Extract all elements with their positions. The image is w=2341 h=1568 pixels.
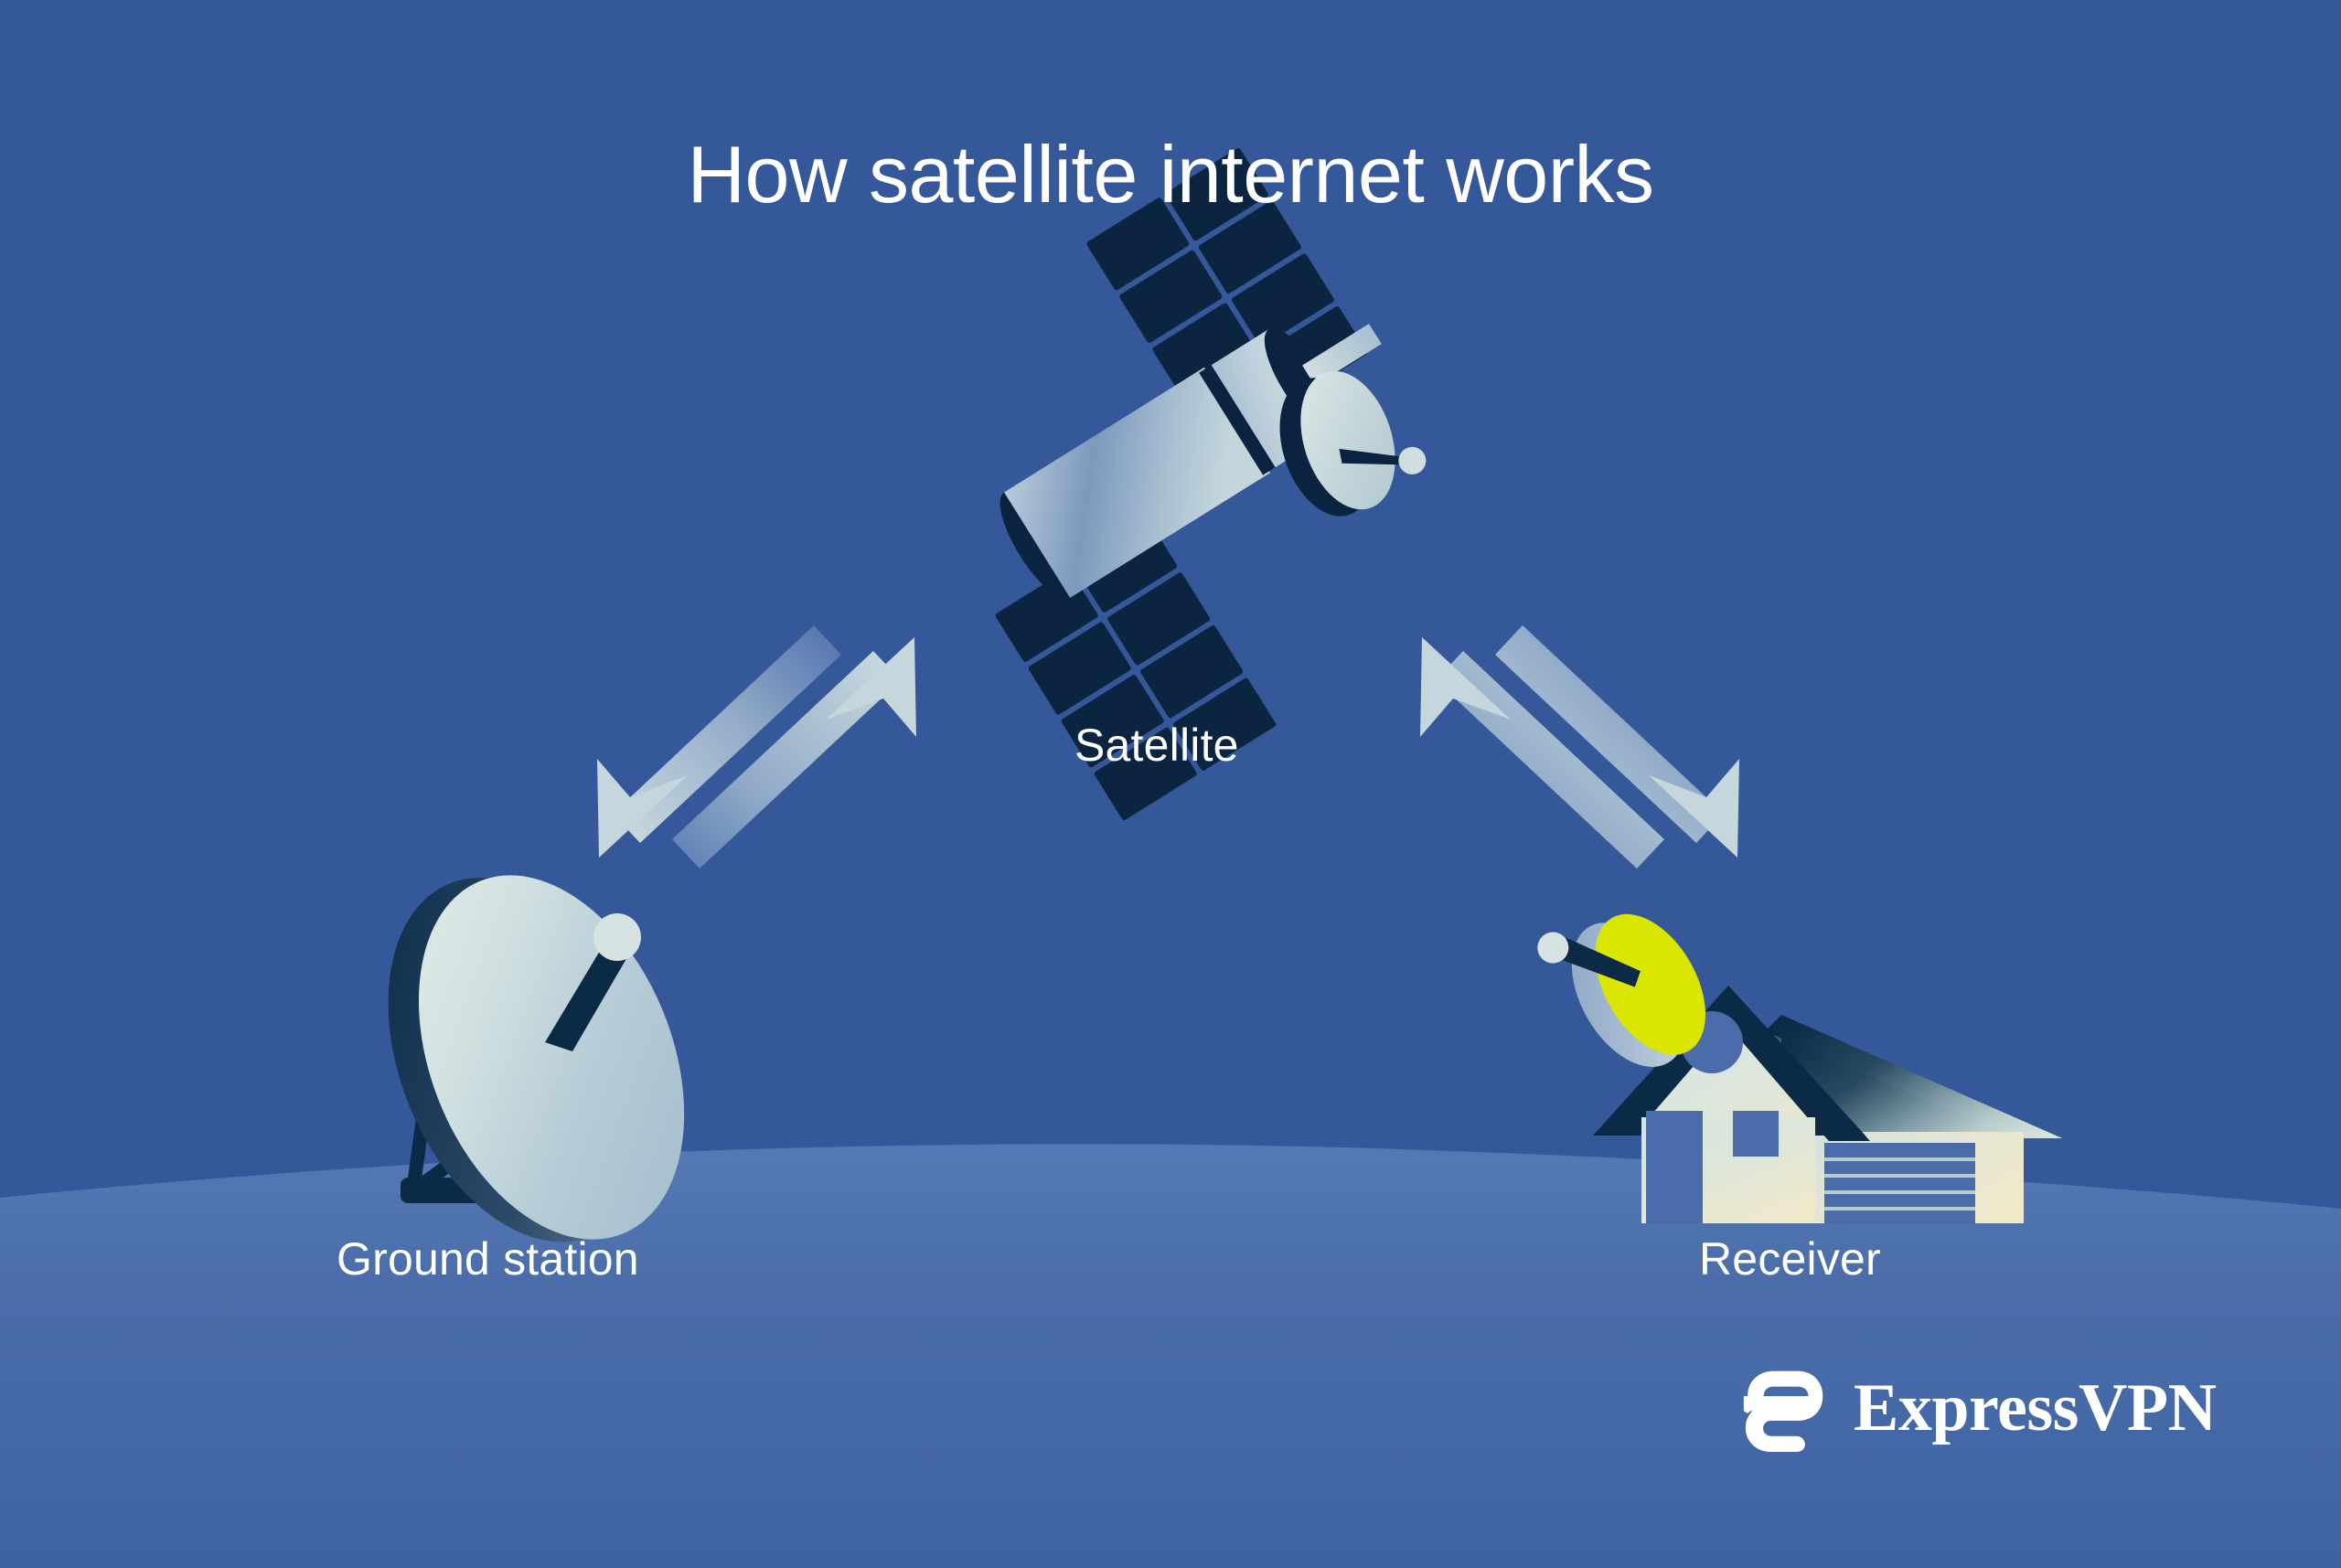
feed-horn-tip-icon [593, 913, 641, 961]
expressvpn-wordmark: ExpressVPN [1854, 1374, 2217, 1442]
front-window [1733, 1111, 1779, 1157]
node-label-ground-station: Ground station [337, 1232, 639, 1285]
node-label-receiver: Receiver [1699, 1232, 1881, 1285]
diagram-illustration [0, 0, 2341, 1568]
page-title: How satellite internet works [0, 128, 2341, 221]
node-label-satellite: Satellite [1074, 719, 1239, 772]
garage-door [1824, 1143, 1975, 1223]
expressvpn-e-mark-icon [1742, 1364, 1830, 1452]
front-door [1646, 1111, 1703, 1223]
infographic-canvas: How satellite internet works Satellite G… [0, 0, 2341, 1568]
expressvpn-logo: ExpressVPN [1742, 1364, 2217, 1452]
